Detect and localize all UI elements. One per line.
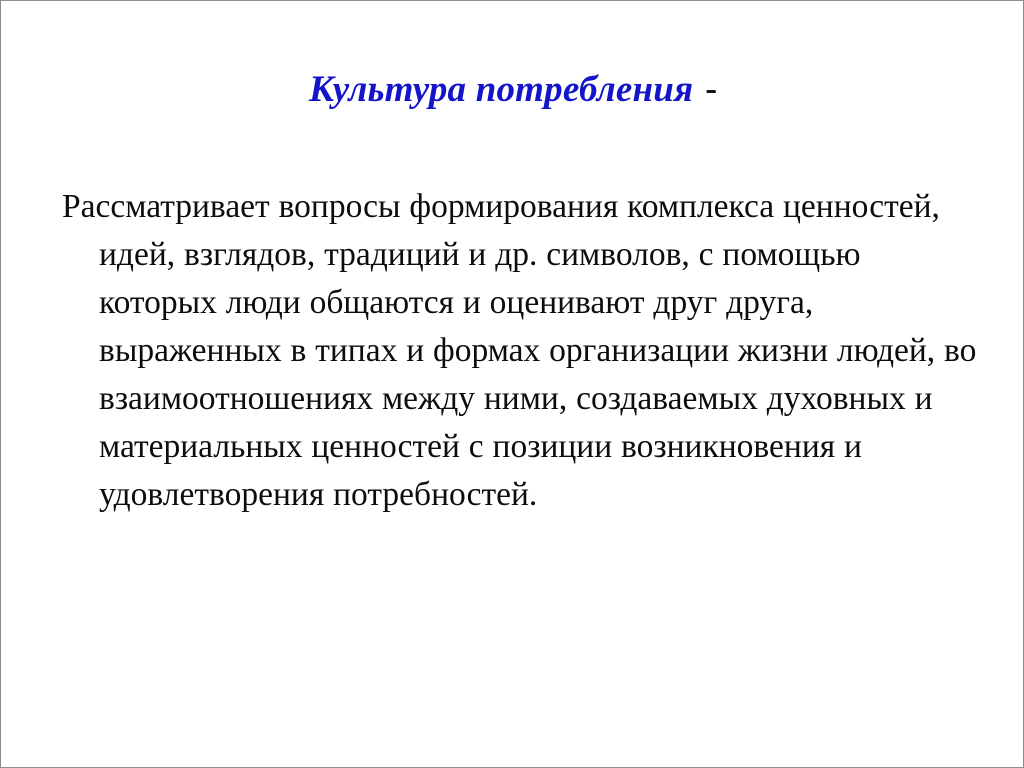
slide-body: Рассматривает вопросы формирования компл… [59, 183, 979, 519]
slide-title: Культура потребления- [1, 71, 1024, 108]
slide-title-dash: - [705, 69, 717, 108]
presentation-slide: Культура потребления- Рассматривает вопр… [0, 0, 1024, 768]
slide-body-paragraph: Рассматривает вопросы формирования компл… [59, 183, 979, 519]
slide-title-text: Культура потребления [309, 69, 693, 110]
